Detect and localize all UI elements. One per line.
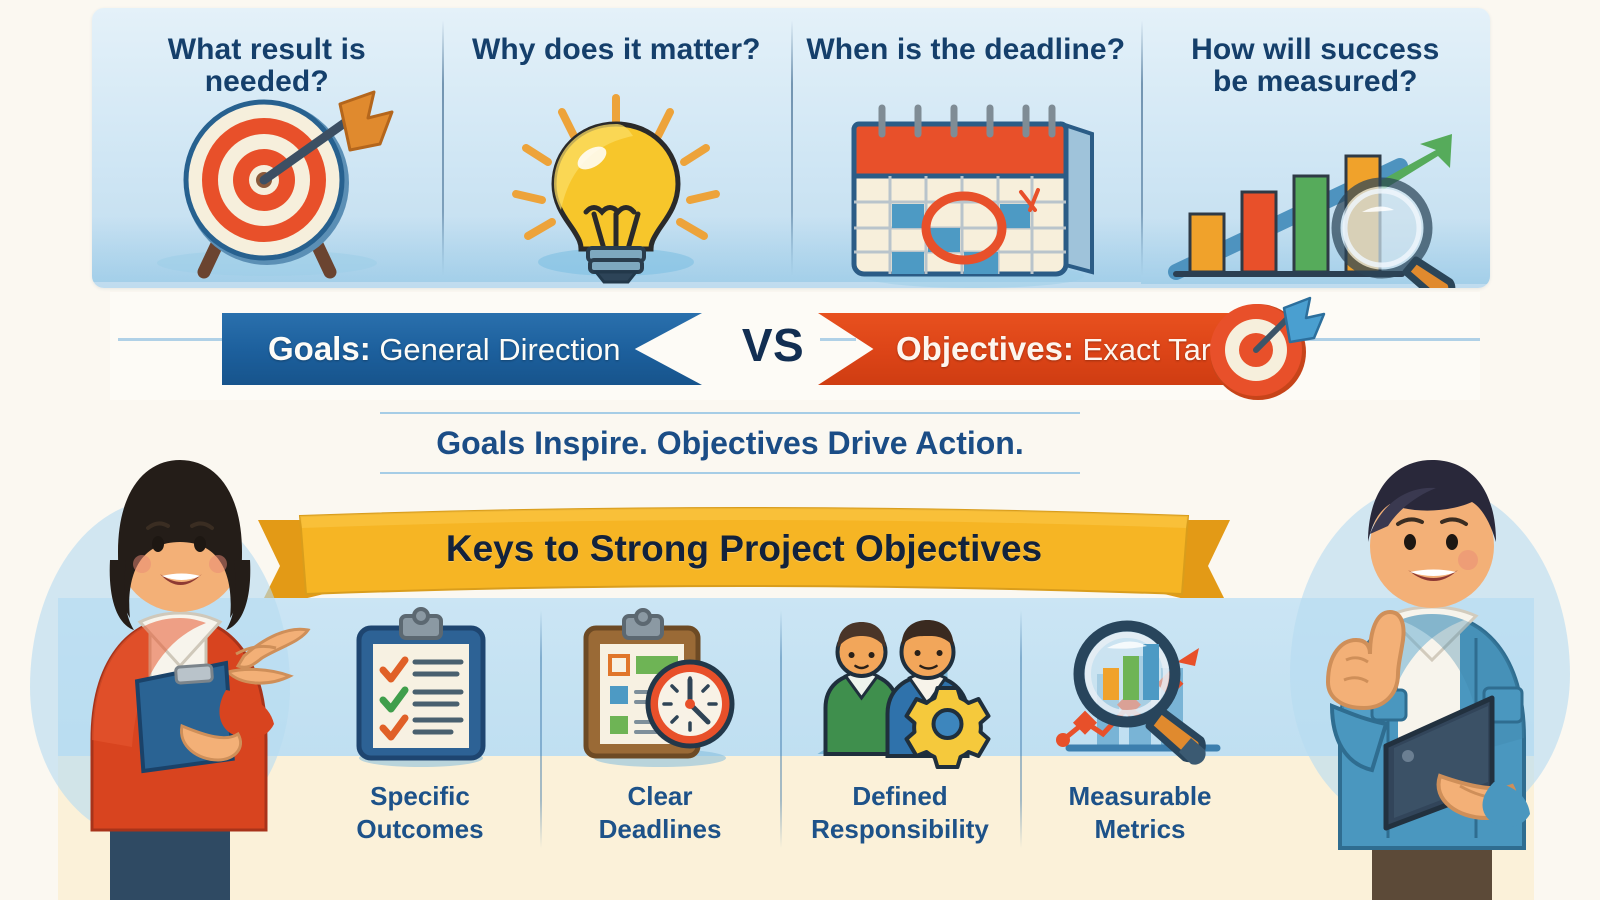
- clipboard-clock-icon: [540, 606, 780, 766]
- question-2-title: Why does it matter?: [455, 34, 777, 66]
- key-item-specific-outcomes[interactable]: Specific Outcomes: [300, 606, 540, 886]
- key-1-line2: Outcomes: [356, 813, 483, 846]
- versus-label: VS: [733, 318, 813, 372]
- tagline-block: Goals Inspire. Objectives Drive Action.: [380, 412, 1080, 474]
- tagline-rule-bottom: [380, 472, 1080, 474]
- bullseye-arrow-icon: [1208, 296, 1316, 404]
- clipboard-checklist-icon: [300, 606, 540, 766]
- infographic-canvas: What result is needed?: [0, 0, 1600, 900]
- question-panel-1: What result is needed?: [92, 8, 442, 288]
- key-4-line2: Metrics: [1068, 813, 1211, 846]
- goals-banner-rest: General Direction: [371, 332, 621, 367]
- objectives-banner-bold: Objectives:: [896, 330, 1074, 367]
- question-4-title: How will success be measured?: [1154, 34, 1476, 99]
- question-panel-4: How will success be measured?: [1141, 8, 1491, 288]
- presenter-woman-illustration: [30, 440, 330, 900]
- key-1-line1: Specific: [356, 780, 483, 813]
- keys-ribbon-title: Keys to Strong Project Objectives: [258, 528, 1230, 570]
- key-item-measurable-metrics[interactable]: Measurable Metrics: [1020, 606, 1260, 886]
- key-item-defined-responsibility[interactable]: Defined Responsibility: [780, 606, 1020, 886]
- calendar-icon: [791, 92, 1141, 282]
- top-questions-strip: What result is needed?: [92, 8, 1490, 288]
- approving-man-illustration: [1262, 438, 1582, 900]
- key-3-line2: Responsibility: [811, 813, 989, 846]
- question-3-title: When is the deadline?: [805, 34, 1127, 66]
- question-panel-2: Why does it matter?: [442, 8, 792, 288]
- key-4-line1: Measurable: [1068, 780, 1211, 813]
- magnifier-chart-arrow-icon: [1020, 606, 1260, 766]
- keys-row: Specific Outcomes: [300, 606, 1260, 886]
- goals-banner[interactable]: Goals: General Direction: [222, 313, 702, 385]
- tagline-text: Goals Inspire. Objectives Drive Action.: [380, 412, 1080, 474]
- bar-chart-magnifier-icon: [1141, 122, 1491, 284]
- lightbulb-icon: [442, 92, 792, 282]
- goals-banner-bold: Goals:: [268, 330, 371, 367]
- target-with-arrow-icon: [92, 92, 442, 282]
- band-rule-right: [1290, 338, 1480, 341]
- key-2-line2: Deadlines: [599, 813, 722, 846]
- band-rule-mid: [820, 338, 856, 341]
- key-3-line1: Defined: [811, 780, 989, 813]
- keys-ribbon: Keys to Strong Project Objectives: [258, 498, 1230, 610]
- key-item-clear-deadlines[interactable]: Clear Deadlines: [540, 606, 780, 886]
- question-panel-3: When is the deadline?: [791, 8, 1141, 288]
- team-gear-icon: [780, 606, 1020, 766]
- key-2-line1: Clear: [599, 780, 722, 813]
- band-rule-left: [118, 338, 228, 341]
